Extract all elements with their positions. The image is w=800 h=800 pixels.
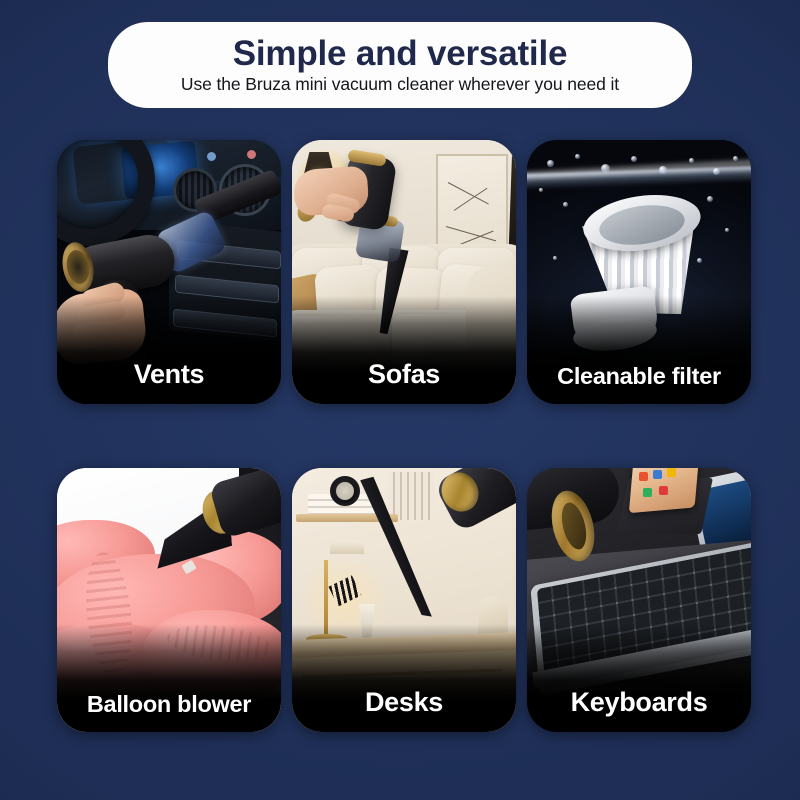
card-label-sofas: Sofas xyxy=(292,359,516,390)
page-title: Simple and versatile xyxy=(233,36,567,73)
use-case-grid: Vents xyxy=(57,140,756,748)
card-keyboards[interactable]: Keyboards xyxy=(527,468,751,732)
card-label-desks: Desks xyxy=(292,687,516,718)
card-vents[interactable]: Vents xyxy=(57,140,281,404)
card-cleanable-filter[interactable]: Cleanable filter xyxy=(527,140,751,404)
card-label-cleanable-filter: Cleanable filter xyxy=(527,363,751,390)
header-banner: Simple and versatile Use the Bruza mini … xyxy=(108,22,692,108)
card-label-balloon-blower: Balloon blower xyxy=(57,691,281,718)
page-subtitle: Use the Bruza mini vacuum cleaner wherev… xyxy=(181,74,619,94)
card-label-keyboards: Keyboards xyxy=(527,687,751,718)
card-sofas[interactable]: Sofas xyxy=(292,140,516,404)
card-label-vents: Vents xyxy=(57,359,281,390)
card-balloon-blower[interactable]: Balloon blower xyxy=(57,468,281,732)
card-desks[interactable]: Desks xyxy=(292,468,516,732)
